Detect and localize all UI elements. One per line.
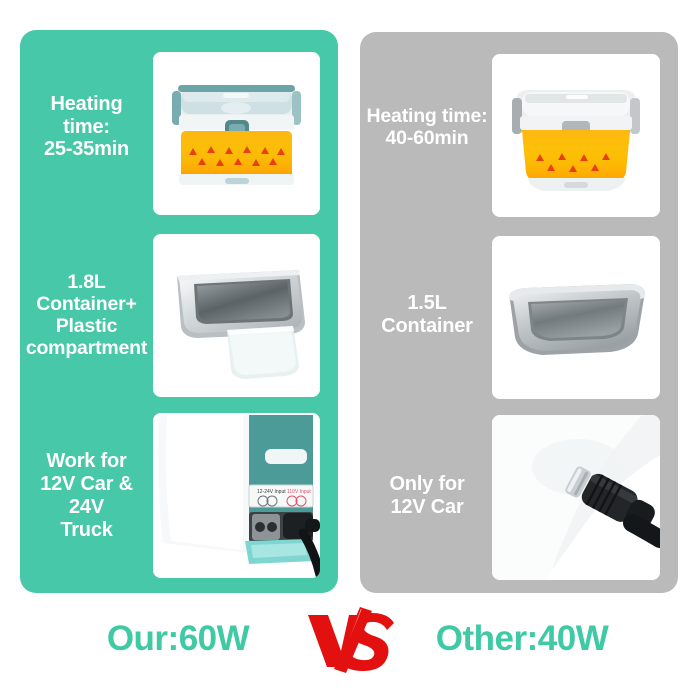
socket-high-input-text: 110V Input — [287, 489, 311, 495]
other-wattage-label: Other:40W — [398, 619, 646, 659]
feature-row-our-heating-time: Heating time: 25-35min — [20, 38, 338, 216]
vs-badge-icon — [302, 605, 398, 673]
other-container-label: 1.5L Container — [364, 292, 490, 338]
comparison-infographic: Heating time: 25-35min — [0, 0, 700, 700]
our-power-socket-image: 12-24V Input 110V Input — [153, 413, 320, 578]
verdict-banner: Our:60W Other:40W — [0, 605, 700, 673]
our-wattage-label: Our:60W — [54, 619, 302, 659]
socket-low-input-text: 12-24V Input — [257, 489, 286, 495]
feature-row-other-container: 1.5L Container — [360, 226, 678, 404]
feature-row-our-power: Work for 12V Car & 24V Truck 12-24V Inpu… — [20, 407, 338, 585]
other-product-panel: Heating time: 40-60min — [360, 32, 678, 593]
our-product-panel: Heating time: 25-35min — [20, 30, 338, 593]
our-heating-time-label: Heating time: 25-35min — [20, 93, 153, 161]
feature-row-other-power: Only for 12V Car — [360, 407, 678, 585]
other-power-plug-image — [492, 415, 660, 580]
our-power-label: Work for 12V Car & 24V Truck — [20, 450, 153, 541]
feature-row-other-heating-time: Heating time: 40-60min — [360, 38, 678, 216]
our-container-image — [153, 234, 320, 397]
other-power-label: Only for 12V Car — [364, 473, 490, 519]
other-heating-time-image — [492, 54, 660, 217]
other-heating-time-label: Heating time: 40-60min — [364, 105, 490, 149]
feature-row-our-container: 1.8L Container+ Plastic compartment — [20, 226, 338, 404]
other-container-image — [492, 236, 660, 399]
our-heating-time-image — [153, 52, 320, 215]
our-container-label: 1.8L Container+ Plastic compartment — [20, 271, 153, 360]
